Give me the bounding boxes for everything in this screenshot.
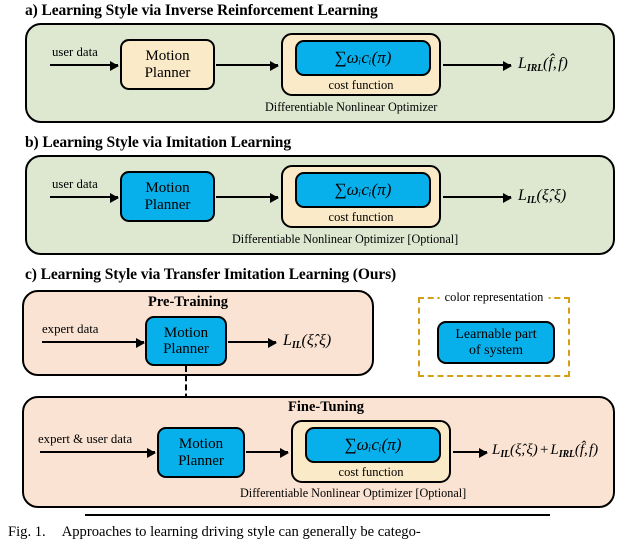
pretraining-stage-title: Pre-Training — [148, 294, 228, 311]
figure-caption: Fig. 1.Approaches to learning driving st… — [8, 524, 421, 541]
panel-b-output-arrow — [443, 196, 511, 198]
caption-body: Approaches to learning driving style can… — [62, 524, 421, 540]
panel-b-input-arrow — [50, 196, 118, 198]
panel-a-output-label: LIRL(f̂, f) — [518, 55, 568, 74]
finetuning-input-arrow — [40, 451, 155, 453]
panel-a-output-arrow — [443, 64, 511, 66]
pretraining-input-arrow — [42, 341, 144, 343]
legend-learnable-swatch[interactable]: Learnable part of system — [437, 321, 555, 364]
panel-a-input-label: user data — [52, 45, 98, 60]
planner-line2: Planner — [145, 65, 191, 81]
finetuning-cost-label: cost function — [293, 465, 449, 480]
finetuning-stage-title: Fine-Tuning — [288, 399, 364, 416]
legend-title: color representation — [440, 290, 549, 305]
panel-a-motion-planner[interactable]: Motion Planner — [120, 39, 215, 90]
panel-a-title: a) Learning Style via Inverse Reinforcem… — [25, 2, 378, 20]
legend-item-line2: of system — [469, 343, 523, 358]
panel-b-motion-planner[interactable]: Motion Planner — [120, 171, 215, 222]
planner-line2: Planner — [178, 453, 224, 469]
planner-line1: Motion — [179, 436, 223, 452]
panel-c-title: c) Learning Style via Transfer Imitation… — [25, 266, 396, 284]
finetuning-cost-wrapper: ∑ωᵢcᵢ(π) cost function — [291, 420, 451, 483]
finetuning-mid-arrow — [246, 451, 288, 453]
pretraining-input-label: expert data — [42, 322, 99, 337]
caption-rule — [85, 514, 550, 516]
finetuning-footer: Differentiable Nonlinear Optimizer [Opti… — [240, 486, 466, 501]
finetuning-output-label: LIL(ξ̂, ξ) + LIRL(f̂, f) — [492, 442, 598, 460]
planner-line2: Planner — [163, 341, 209, 357]
planner-line1: Motion — [145, 48, 189, 64]
panel-b-cost-label: cost function — [283, 210, 439, 225]
panel-b-mid-arrow — [216, 196, 278, 198]
panel-b-input-label: user data — [52, 177, 98, 192]
panel-b-cost-box[interactable]: ∑ωᵢcᵢ(π) — [295, 172, 431, 208]
finetuning-input-label: expert & user data — [38, 432, 132, 447]
planner-line1: Motion — [164, 325, 208, 341]
pretraining-output-arrow — [228, 341, 276, 343]
finetuning-cost-box[interactable]: ∑ωᵢcᵢ(π) — [305, 427, 441, 463]
panel-a-mid-arrow — [216, 64, 278, 66]
panel-a-cost-wrapper: ∑ωᵢcᵢ(π) cost function — [281, 33, 441, 96]
panel-b-cost-wrapper: ∑ωᵢcᵢ(π) cost function — [281, 165, 441, 228]
panel-b-cost-formula: ∑ωᵢcᵢ(π) — [335, 180, 392, 200]
planner-line2: Planner — [145, 197, 191, 213]
panel-b-title: b) Learning Style via Imitation Learning — [25, 134, 291, 152]
color-representation-legend: color representation Learnable part of s… — [418, 297, 570, 377]
panel-b-output-label: LIL(ξ̂, ξ) — [518, 187, 566, 206]
panel-a-cost-box[interactable]: ∑ωᵢcᵢ(π) — [295, 40, 431, 76]
panel-a-input-arrow — [50, 64, 118, 66]
caption-number: Fig. 1. — [8, 524, 46, 540]
pretraining-output-label: LIL(ξ̂, ξ) — [283, 332, 331, 351]
panel-a-footer: Differentiable Nonlinear Optimizer — [265, 100, 437, 115]
panel-a-cost-formula: ∑ωᵢcᵢ(π) — [335, 48, 392, 68]
planner-line1: Motion — [145, 180, 189, 196]
panel-b-footer: Differentiable Nonlinear Optimizer [Opti… — [232, 232, 458, 247]
finetuning-motion-planner[interactable]: Motion Planner — [157, 427, 245, 478]
legend-item-line1: Learnable part — [455, 327, 536, 342]
pretraining-motion-planner[interactable]: Motion Planner — [145, 316, 227, 366]
finetuning-cost-formula: ∑ωᵢcᵢ(π) — [345, 435, 402, 455]
finetuning-output-arrow — [453, 451, 487, 453]
panel-a-cost-label: cost function — [283, 78, 439, 93]
